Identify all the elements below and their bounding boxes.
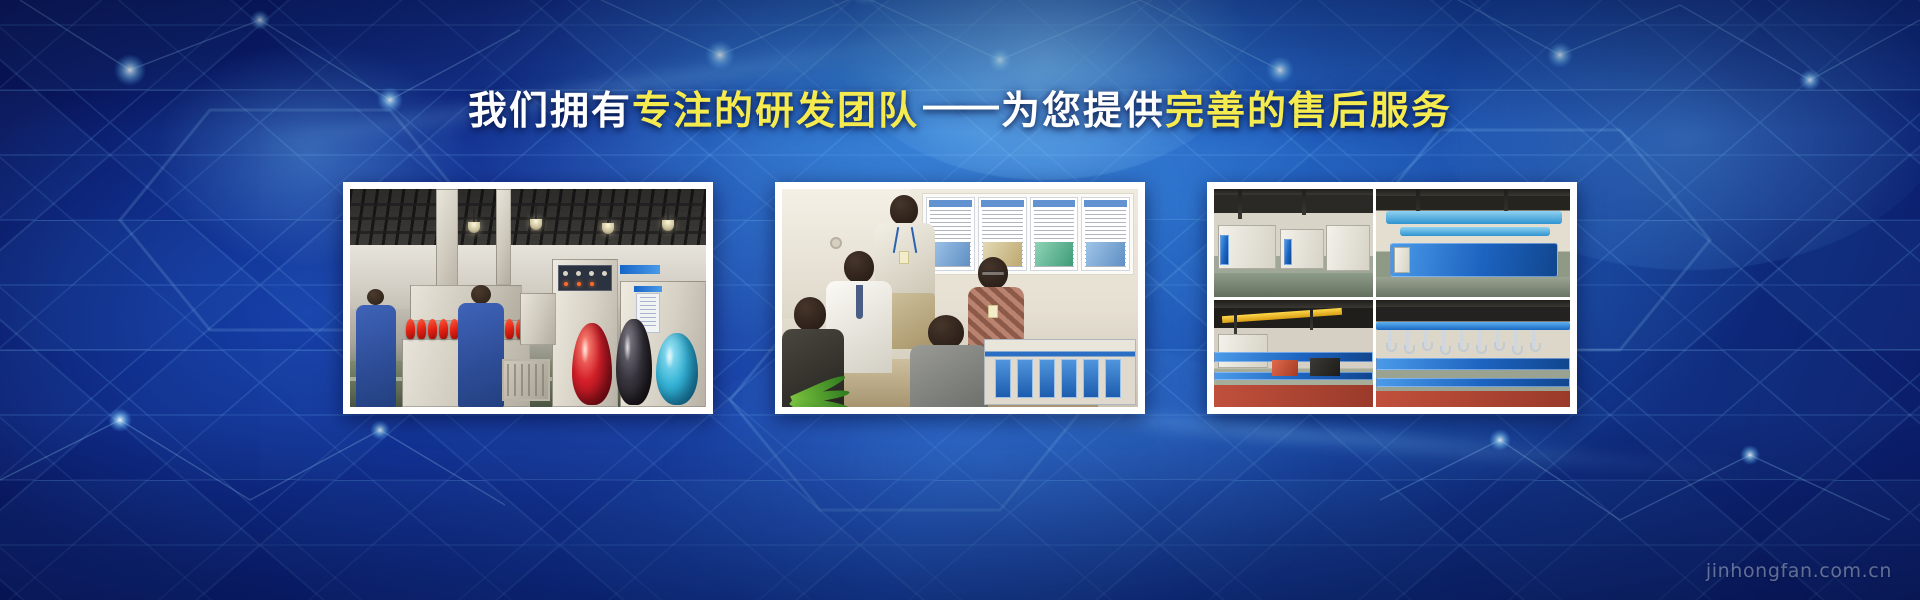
photo-frame-equipment-collage[interactable] [1207,182,1577,414]
photo-rd-meeting [782,189,1138,407]
collage-cell-conveyor [1214,300,1373,408]
foreground-plant [782,337,868,407]
worker-figure [458,303,504,407]
cabinet-label [620,265,660,274]
worker-figure [356,305,396,407]
exhaust-column [496,189,511,285]
conveyor-frame [1376,378,1570,387]
id-badge [988,305,998,318]
headline-dash-separator: —— [919,82,1001,130]
collage-cell-duct-hall [1376,189,1570,297]
product-vases-overlay [570,315,704,407]
vase-dark [616,319,652,405]
vase-red [572,323,612,405]
eyeglasses-icon [981,271,1005,276]
machine-label [634,286,662,292]
headline-segment-2-highlight: 专注的研发团队 [632,90,919,133]
overhead-rail [1376,322,1570,330]
collage-cell-coating-line [1214,189,1373,297]
collage-cell-hanging-line [1376,300,1570,408]
conveyor-frame [1376,358,1570,370]
site-watermark: jinhongfan.com.cn [1706,560,1892,582]
person-head [844,251,874,283]
technical-poster-board [922,193,1134,275]
plastic-crate [502,359,550,401]
headline-segment-1: 我们拥有 [468,90,632,133]
coating-tank [1390,243,1558,277]
wall-clock-icon [830,237,842,249]
person-head [794,297,826,331]
person-body [910,345,988,407]
rear-machine [520,293,556,345]
blue-duct [1400,227,1550,236]
floor-strip [1376,277,1570,297]
equipment-inset [984,339,1136,405]
person-head [890,195,918,225]
control-panel [558,265,612,291]
worker-head [367,289,384,305]
hero-banner: 我们拥有专注的研发团队——为您提供完善的售后服务 [0,0,1920,600]
headline-segment-3: 为您提供 [1001,90,1165,133]
headline-segment-4-highlight: 完善的售后服务 [1165,90,1452,133]
poster [1081,197,1130,271]
person-head [928,315,964,349]
photo-frame-rd-meeting[interactable] [775,182,1145,414]
crane-beam [1222,307,1342,322]
floor-strip [1214,273,1373,297]
poster [1030,197,1079,271]
banner-headline: 我们拥有专注的研发团队——为您提供完善的售后服务 [0,88,1920,136]
photo-production-line [350,189,706,407]
worker-head [471,285,491,304]
necktie [856,285,863,319]
photo-equipment-collage [1214,189,1570,407]
vase-blue [656,333,698,405]
blue-duct [1386,211,1562,224]
photo-gallery-row [0,182,1920,414]
id-badge [899,251,909,264]
photo-frame-production-line[interactable] [343,182,713,414]
